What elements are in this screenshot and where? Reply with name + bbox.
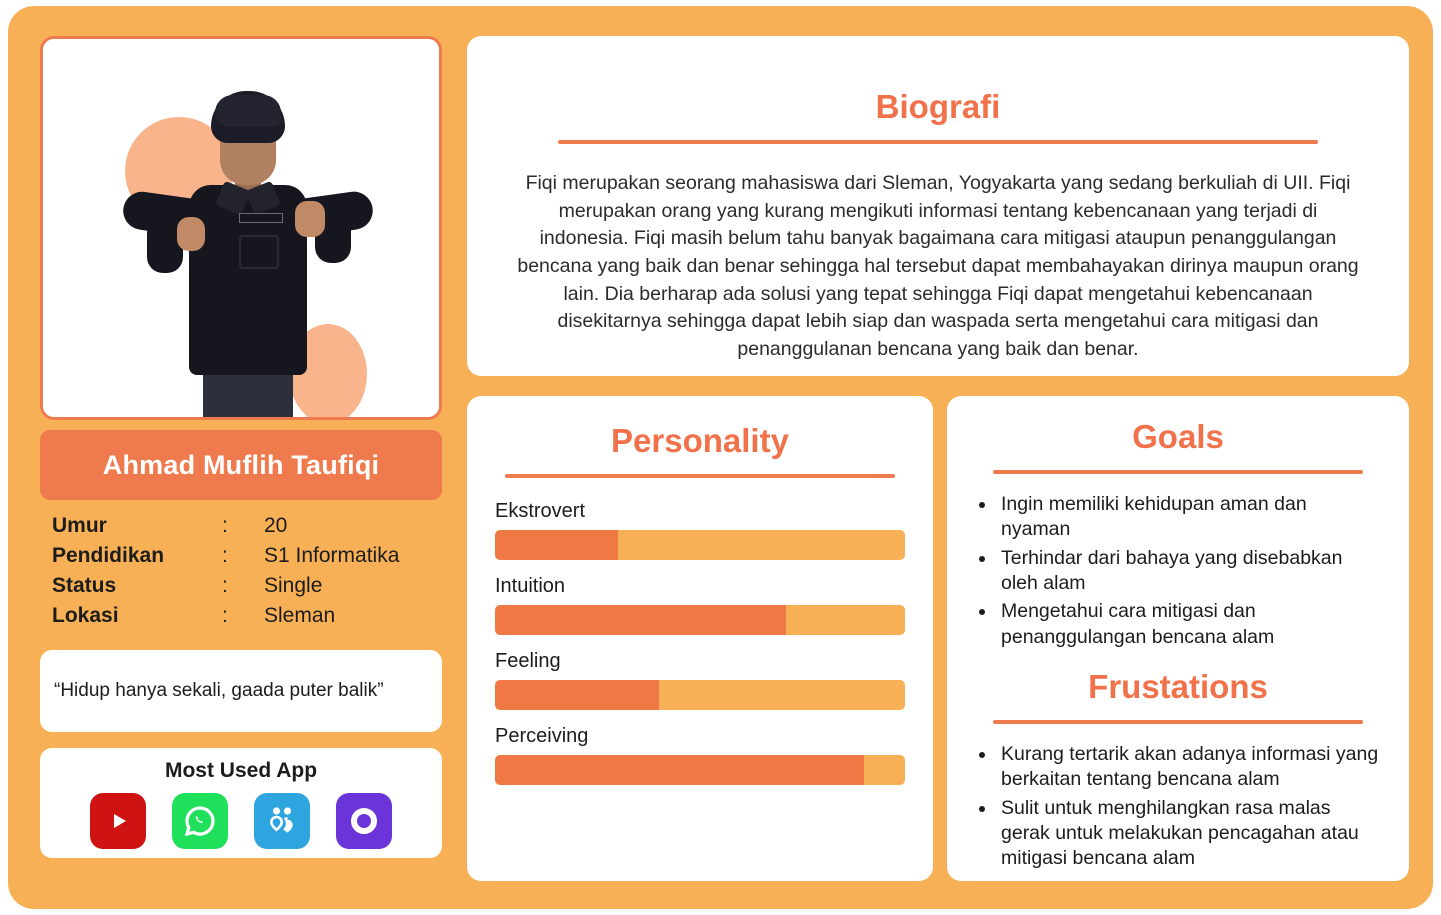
trait-bar-track (495, 605, 905, 635)
detail-colon: : (222, 604, 264, 628)
goals-list: Ingin memiliki kehidupan aman dan nyaman… (979, 492, 1379, 650)
trait-label: Ekstrovert (495, 500, 905, 523)
tantan-app-icon[interactable] (254, 793, 310, 849)
list-item: Kurang tertarik akan adanya informasi ya… (997, 742, 1379, 793)
trait-bar-track (495, 530, 905, 560)
detail-label: Lokasi (52, 604, 222, 628)
biografi-text: Fiqi merupakan seorang mahasiswa dari Sl… (513, 170, 1363, 364)
goals-frustations-card: Goals Ingin memiliki kehidupan aman dan … (947, 396, 1409, 881)
persona-page: Ahmad Muflih Taufiqi Umur : 20 Pendidika… (8, 6, 1433, 909)
list-item: Mengetahui cara mitigasi dan penanggulan… (997, 599, 1379, 650)
trait-bar-track (495, 680, 905, 710)
most-used-app-title: Most Used App (40, 759, 442, 783)
youtube-app-icon[interactable] (90, 793, 146, 849)
trait-ekstrovert: Ekstrovert (495, 500, 905, 560)
title-divider (993, 470, 1363, 474)
biografi-card: Biografi Fiqi merupakan seorang mahasisw… (467, 36, 1409, 376)
trait-bar-fill (495, 755, 864, 785)
trait-bar-fill (495, 680, 659, 710)
detail-row-status: Status : Single (52, 574, 442, 604)
detail-row-umur: Umur : 20 (52, 514, 442, 544)
trait-label: Feeling (495, 650, 905, 673)
frustations-list: Kurang tertarik akan adanya informasi ya… (979, 742, 1379, 872)
title-divider (558, 140, 1318, 144)
detail-row-pendidikan: Pendidikan : S1 Informatika (52, 544, 442, 574)
detail-label: Status (52, 574, 222, 598)
trait-intuition: Intuition (495, 575, 905, 635)
trait-bar-fill (495, 530, 618, 560)
detail-value: Single (264, 574, 322, 598)
detail-label: Pendidikan (52, 544, 222, 568)
app-icon-list (40, 793, 442, 849)
title-divider (505, 474, 895, 478)
personality-title: Personality (467, 422, 933, 460)
personality-bars: Ekstrovert Intuition Feeling Perceiving (495, 500, 905, 785)
trait-perceiving: Perceiving (495, 725, 905, 785)
detail-colon: : (222, 574, 264, 598)
biografi-title: Biografi (467, 88, 1409, 126)
detail-colon: : (222, 514, 264, 538)
title-divider (993, 720, 1363, 724)
list-item: Sulit untuk menghilangkan rasa malas ger… (997, 796, 1379, 872)
whatsapp-app-icon[interactable] (172, 793, 228, 849)
detail-value: 20 (264, 514, 287, 538)
profile-quote: “Hidup hanya sekali, gaada puter balik” (54, 680, 384, 702)
profile-name: Ahmad Muflih Taufiqi (103, 450, 379, 481)
detail-label: Umur (52, 514, 222, 538)
trait-label: Intuition (495, 575, 905, 598)
goals-title: Goals (947, 418, 1409, 456)
trait-bar-fill (495, 605, 786, 635)
detail-value: Sleman (264, 604, 335, 628)
profile-name-banner: Ahmad Muflih Taufiqi (40, 430, 442, 500)
detail-value: S1 Informatika (264, 544, 399, 568)
profile-details-table: Umur : 20 Pendidikan : S1 Informatika St… (40, 514, 442, 634)
trait-label: Perceiving (495, 725, 905, 748)
trait-bar-track (495, 755, 905, 785)
profile-quote-card: “Hidup hanya sekali, gaada puter balik” (40, 650, 442, 732)
most-used-app-card: Most Used App (40, 748, 442, 858)
profile-photo-card (40, 36, 442, 420)
profile-sidebar: Ahmad Muflih Taufiqi Umur : 20 Pendidika… (40, 36, 442, 881)
list-item: Terhindar dari bahaya yang disebabkan ol… (997, 546, 1379, 597)
viu-app-icon[interactable] (336, 793, 392, 849)
personality-card: Personality Ekstrovert Intuition Feeling (467, 396, 933, 881)
detail-colon: : (222, 544, 264, 568)
frustations-title: Frustations (947, 668, 1409, 706)
person-photo (43, 39, 439, 417)
profile-photo (43, 39, 439, 417)
trait-feeling: Feeling (495, 650, 905, 710)
detail-row-lokasi: Lokasi : Sleman (52, 604, 442, 634)
list-item: Ingin memiliki kehidupan aman dan nyaman (997, 492, 1379, 543)
